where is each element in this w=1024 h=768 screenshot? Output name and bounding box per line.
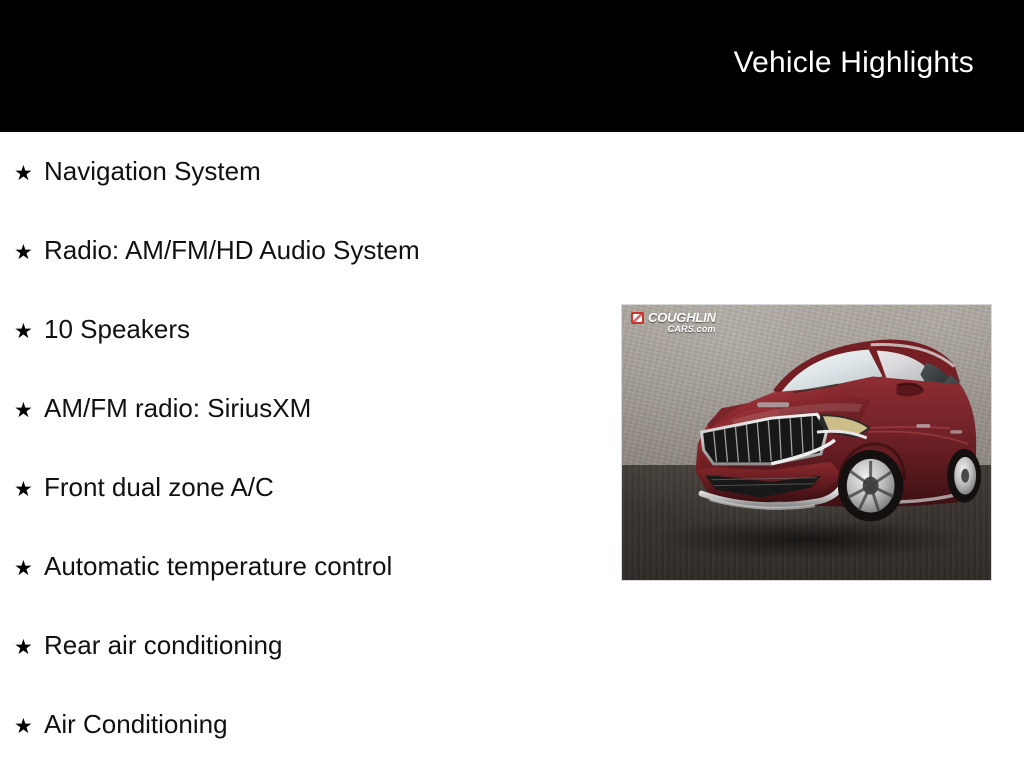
list-item: ★ Radio: AM/FM/HD Audio System: [0, 237, 600, 316]
highlight-label: 10 Speakers: [44, 316, 190, 342]
list-item: ★ Automatic temperature control: [0, 553, 600, 632]
dealer-watermark: COUGHLIN CARS.com: [631, 311, 716, 334]
coughlin-logo-icon: [631, 312, 644, 324]
vehicle-highlights-list: ★ Navigation System ★ Radio: AM/FM/HD Au…: [0, 132, 600, 768]
header-band: Vehicle Highlights: [0, 0, 1024, 132]
list-item: ★ Air Conditioning: [0, 711, 600, 768]
star-bullet-icon: ★: [14, 558, 44, 579]
list-item: ★ Navigation System: [0, 158, 600, 237]
star-bullet-icon: ★: [14, 242, 44, 263]
highlight-label: Front dual zone A/C: [44, 474, 274, 500]
watermark-line2: CARS.com: [648, 325, 716, 334]
list-item: ★ Rear air conditioning: [0, 632, 600, 711]
highlight-label: Radio: AM/FM/HD Audio System: [44, 237, 420, 263]
rear-wheel: [947, 449, 981, 503]
page-title: Vehicle Highlights: [734, 48, 974, 78]
watermark-line1: COUGHLIN: [648, 311, 716, 324]
star-bullet-icon: ★: [14, 637, 44, 658]
highlight-label: Automatic temperature control: [44, 553, 392, 579]
vehicle-illustration: [622, 305, 991, 580]
watermark-text: COUGHLIN CARS.com: [648, 311, 716, 334]
highlight-label: Air Conditioning: [44, 711, 228, 737]
highlight-label: Navigation System: [44, 158, 261, 184]
highlight-label: Rear air conditioning: [44, 632, 282, 658]
star-bullet-icon: ★: [14, 400, 44, 421]
list-item: ★ Front dual zone A/C: [0, 474, 600, 553]
star-bullet-icon: ★: [14, 479, 44, 500]
photo-stage: COUGHLIN CARS.com: [622, 305, 991, 580]
front-wheel: [838, 450, 904, 521]
star-bullet-icon: ★: [14, 163, 44, 184]
star-bullet-icon: ★: [14, 716, 44, 737]
vehicle-photo: COUGHLIN CARS.com: [621, 304, 992, 581]
vehicle-highlights-slide: Vehicle Highlights ★ Navigation System ★…: [0, 0, 1024, 768]
list-item: ★ AM/FM radio: SiriusXM: [0, 395, 600, 474]
highlight-label: AM/FM radio: SiriusXM: [44, 395, 311, 421]
star-bullet-icon: ★: [14, 321, 44, 342]
list-item: ★ 10 Speakers: [0, 316, 600, 395]
